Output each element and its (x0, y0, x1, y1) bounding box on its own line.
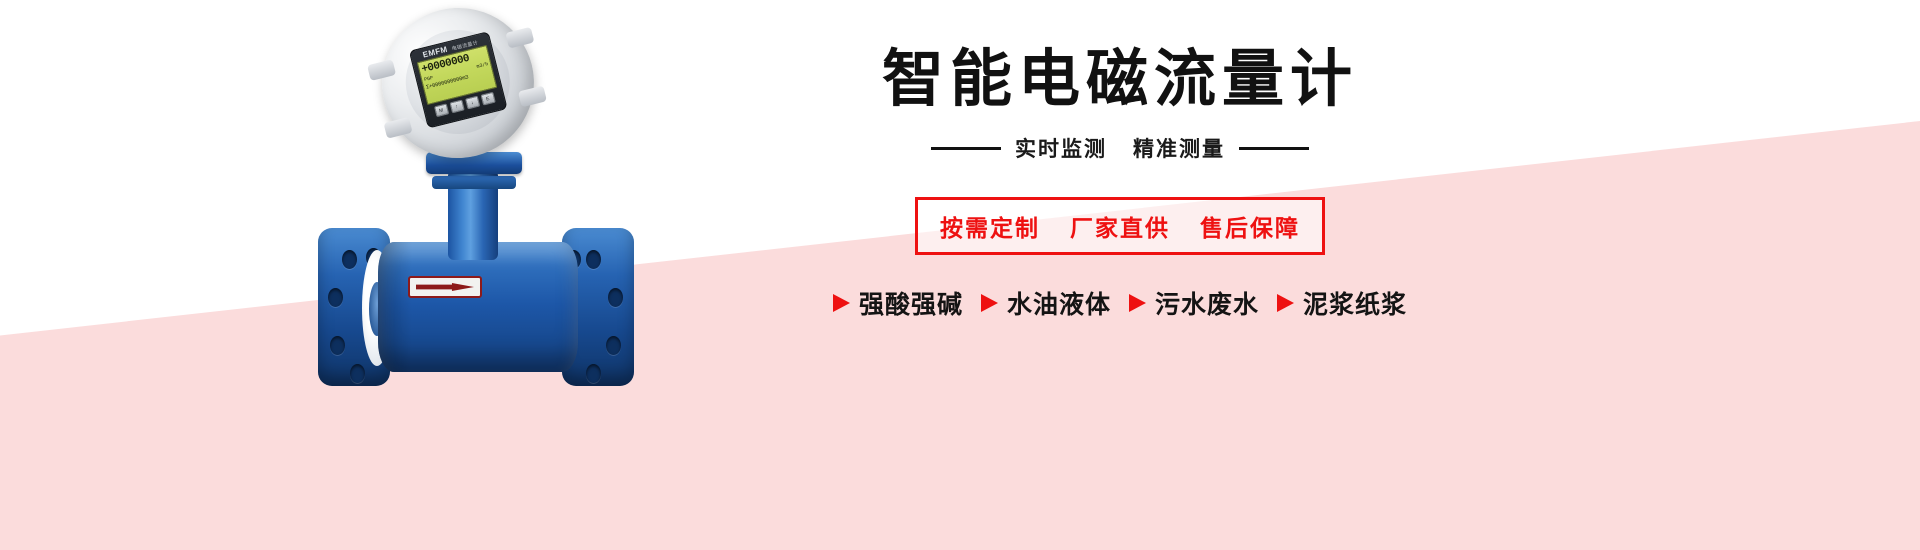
feature-list: 强酸强碱 水油液体 污水废水 泥浆纸浆 (760, 285, 1480, 321)
triangle-bullet-icon (833, 294, 850, 312)
subtitle-word: 实时监测 (1015, 133, 1107, 163)
feature-item: 强酸强碱 (833, 285, 963, 321)
flange-bolt (330, 336, 345, 355)
banner-title: 智能电磁流量计 (760, 44, 1480, 115)
guarantee-box: 按需定制 厂家直供 售后保障 (915, 197, 1325, 255)
flange-bolt (608, 288, 623, 307)
flange-bolt (328, 288, 343, 307)
flange-bolt (586, 250, 601, 269)
flange-bolt (342, 250, 357, 269)
banner-copy: 智能电磁流量计 实时监测 精准测量 按需定制 厂家直供 售后保障 强酸强碱 (760, 44, 1480, 321)
guarantee-item: 售后保障 (1200, 209, 1300, 243)
keypad-key[interactable]: E (480, 92, 495, 106)
meter-body (378, 242, 578, 372)
feature-item: 污水废水 (1129, 285, 1259, 321)
product-image-flowmeter: EMFM 电磁流量计 +0000000 PGP m3/h Σ+000000000… (300, 0, 660, 420)
keypad-key[interactable]: ↑ (449, 100, 464, 114)
triangle-bullet-icon (981, 294, 998, 312)
flow-direction-arrow-icon (408, 276, 482, 298)
rule-right (1239, 147, 1309, 150)
subtitle-words: 实时监测 精准测量 (1015, 133, 1225, 163)
feature-item: 水油液体 (981, 285, 1111, 321)
flange-bolt (350, 364, 365, 383)
triangle-bullet-icon (1129, 294, 1146, 312)
keypad-key[interactable]: ↓ (465, 96, 480, 110)
keypad-key[interactable]: M (433, 103, 448, 117)
triangle-bullet-icon (1277, 294, 1294, 312)
feature-label: 污水废水 (1155, 285, 1259, 321)
feature-item: 泥浆纸浆 (1277, 285, 1407, 321)
flange-bolt (586, 364, 601, 383)
meter-neck-flange-lower (432, 176, 516, 189)
rule-left (931, 147, 1001, 150)
feature-label: 水油液体 (1007, 285, 1111, 321)
product-banner: EMFM 电磁流量计 +0000000 PGP m3/h Σ+000000000… (0, 0, 1920, 550)
flange-bolt (606, 336, 621, 355)
feature-label: 强酸强碱 (859, 285, 963, 321)
transmitter-head: EMFM 电磁流量计 +0000000 PGP m3/h Σ+000000000… (366, 0, 550, 174)
subtitle-word: 精准测量 (1133, 133, 1225, 163)
feature-label: 泥浆纸浆 (1303, 285, 1407, 321)
guarantee-item: 按需定制 (940, 209, 1040, 243)
banner-subtitle: 实时监测 精准测量 (760, 133, 1480, 163)
guarantee-item: 厂家直供 (1070, 209, 1170, 243)
